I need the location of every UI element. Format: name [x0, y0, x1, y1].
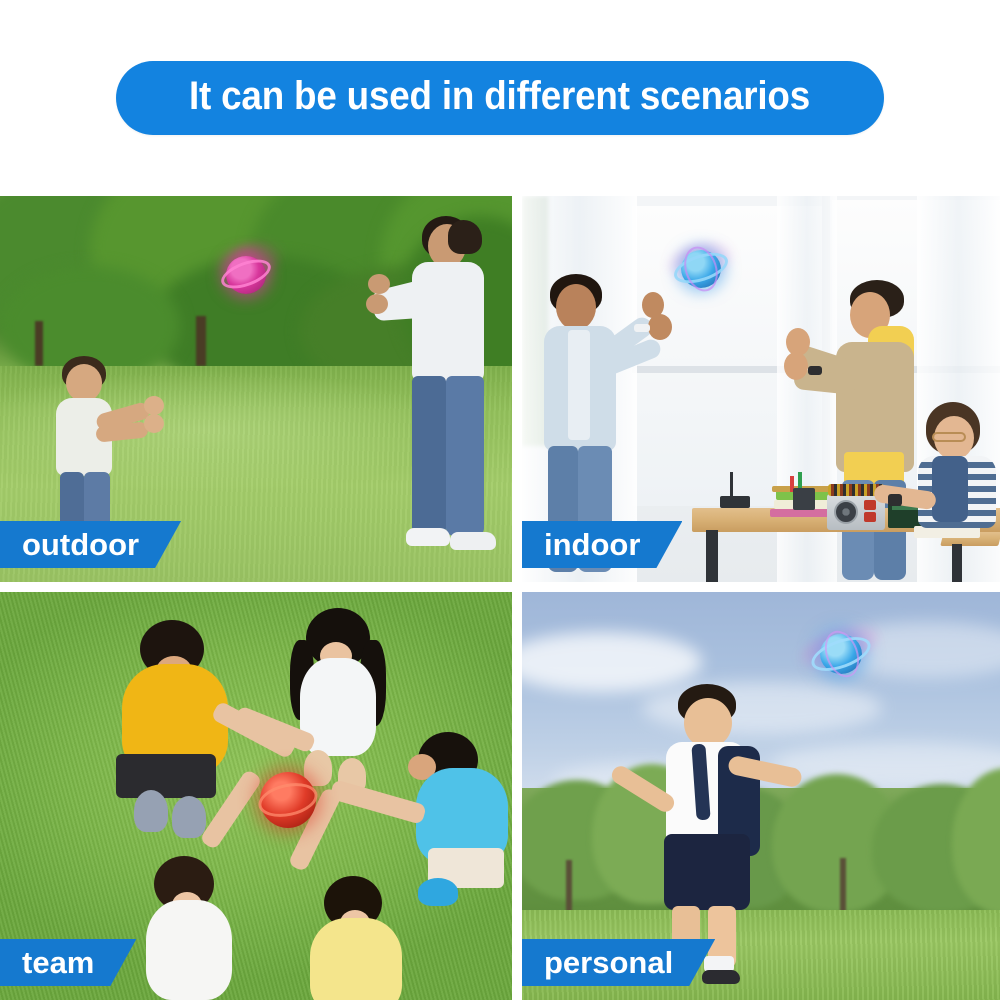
panel-label-text: personal: [544, 947, 673, 978]
panel-label-personal: personal: [522, 939, 715, 986]
flying-orb-toy-red: [256, 768, 320, 832]
team-person-yellow-shirt: [110, 612, 250, 812]
scenario-panel-outdoor[interactable]: outdoor: [0, 196, 512, 582]
panel-label-text: team: [22, 947, 94, 978]
flying-orb-toy-blue: [665, 236, 739, 298]
scenario-panel-indoor[interactable]: indoor: [522, 196, 1000, 582]
scenario-collage-page: It can be used in different scenarios: [0, 0, 1000, 1000]
personal-child-figure: [642, 684, 832, 974]
scenario-panel-team[interactable]: team: [0, 592, 512, 1000]
page-title: It can be used in different scenarios: [189, 75, 810, 117]
flying-orb-toy-pink: [212, 242, 284, 304]
panel-label-text: outdoor: [22, 529, 139, 560]
scenario-panel-personal[interactable]: personal: [522, 592, 1000, 1000]
flying-orb-toy-blue: [798, 618, 884, 684]
team-person-yellow-top: [300, 866, 430, 1000]
panel-label-text: indoor: [544, 529, 640, 560]
team-person-white-dress: [130, 844, 260, 1000]
team-scene-image: [0, 592, 512, 1000]
outdoor-adult-figure: [390, 214, 512, 554]
scenario-grid: outdoor: [0, 196, 1000, 1000]
header-area: It can be used in different scenarios: [0, 0, 1000, 196]
indoor-girl-at-desk-figure: [900, 402, 1000, 542]
panel-label-outdoor: outdoor: [0, 521, 181, 568]
header-banner: It can be used in different scenarios: [116, 61, 883, 135]
personal-scene-image: [522, 592, 1000, 1000]
panel-label-indoor: indoor: [522, 521, 682, 568]
team-person-white-top: [282, 602, 412, 792]
